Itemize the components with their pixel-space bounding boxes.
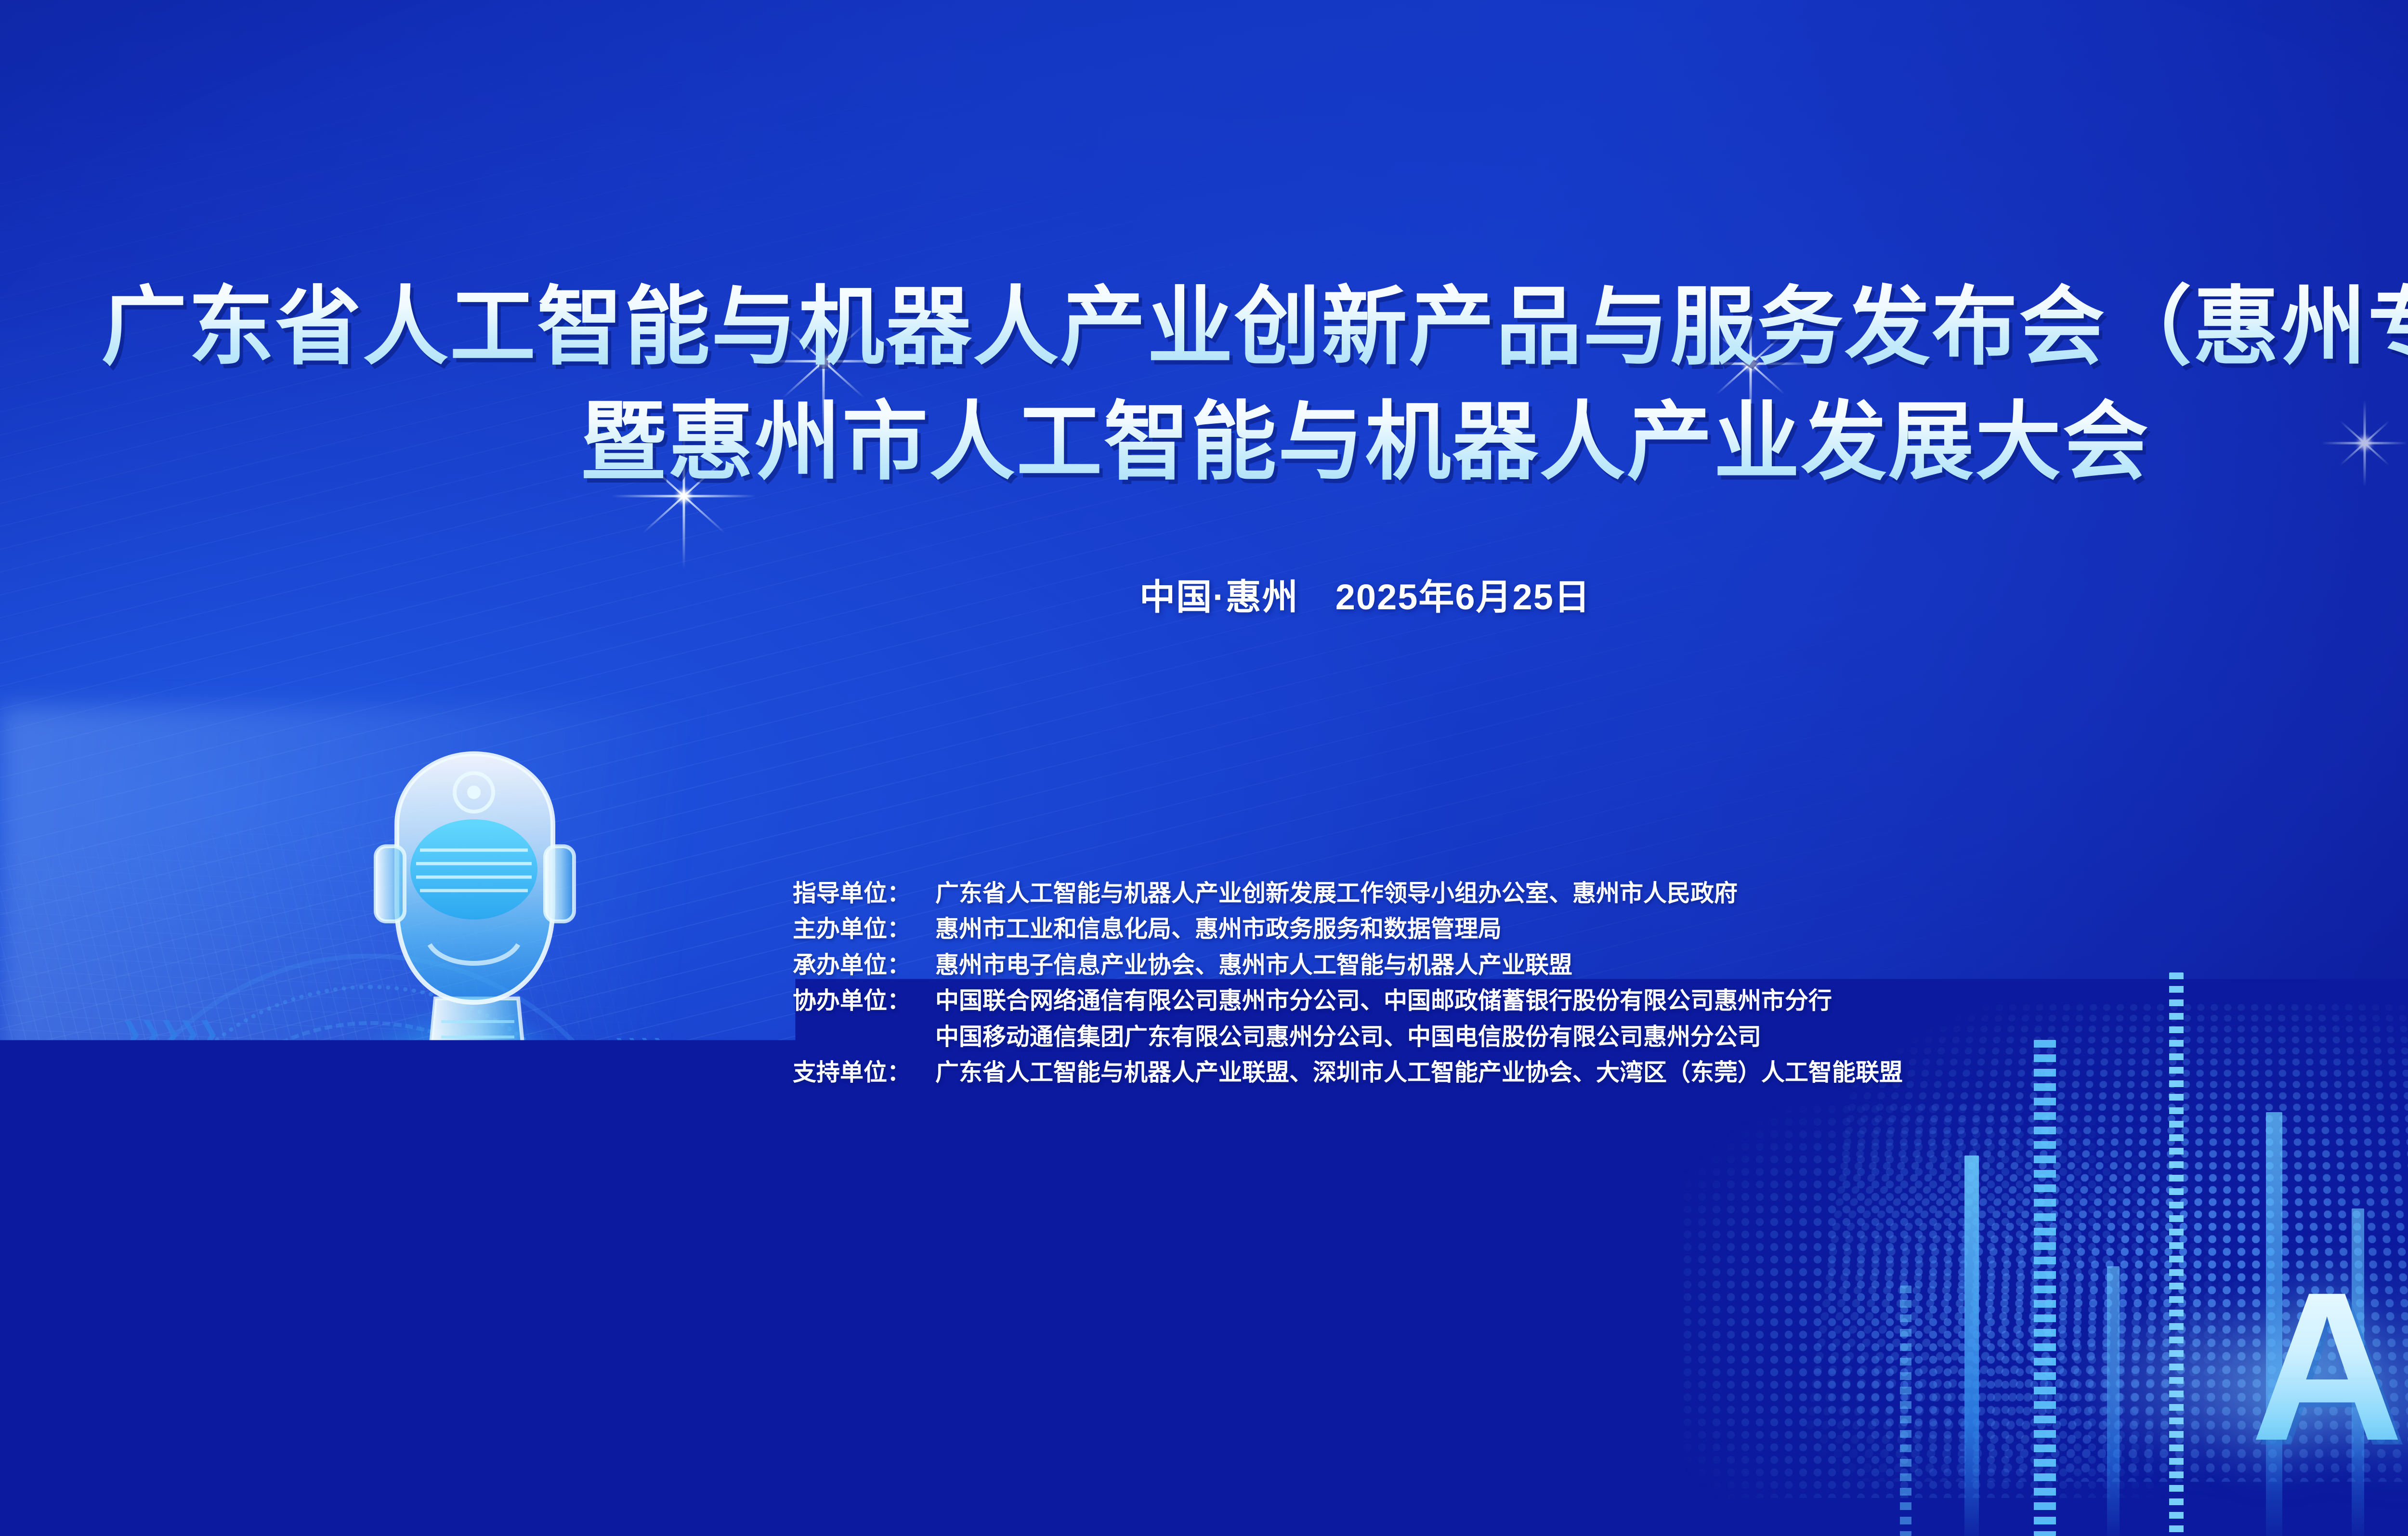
- conference-banner: 广东省人工智能与机器人产业创新产品与服务发布会（惠州专场） 暨惠州市人工智能与机…: [0, 0, 2408, 1536]
- vignette-overlay: [0, 0, 2408, 1536]
